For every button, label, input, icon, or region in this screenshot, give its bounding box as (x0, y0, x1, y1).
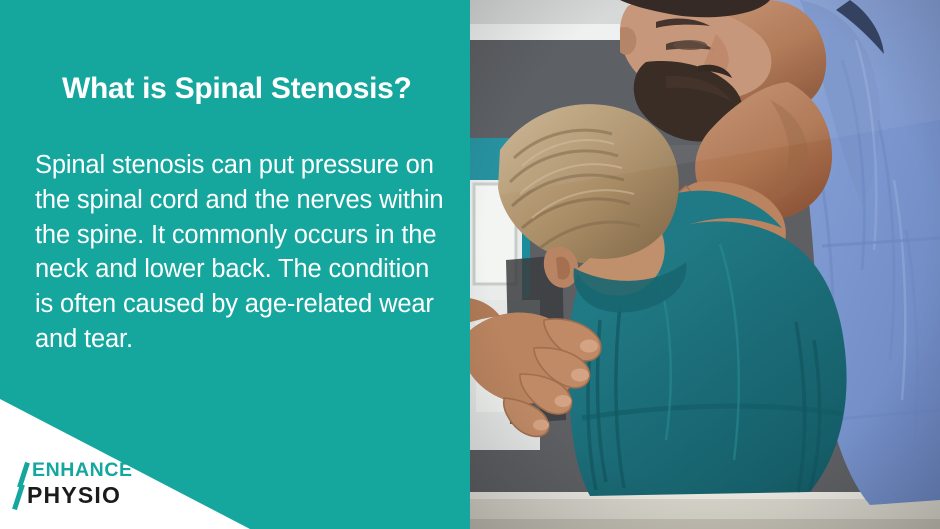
page-title: What is Spinal Stenosis? (62, 72, 442, 106)
logo-word-enhance: ENHANCE (32, 461, 133, 481)
body-text: Spinal stenosis can put pressure on the … (35, 148, 447, 357)
brand-logo[interactable]: ENHANCE PHYSIO (18, 461, 150, 511)
text-panel: What is Spinal Stenosis? Spinal stenosis… (0, 0, 470, 529)
clinic-photo (470, 0, 940, 529)
infographic-card: What is Spinal Stenosis? Spinal stenosis… (0, 0, 940, 529)
logo-word-physio: PHYSIO (27, 484, 121, 507)
